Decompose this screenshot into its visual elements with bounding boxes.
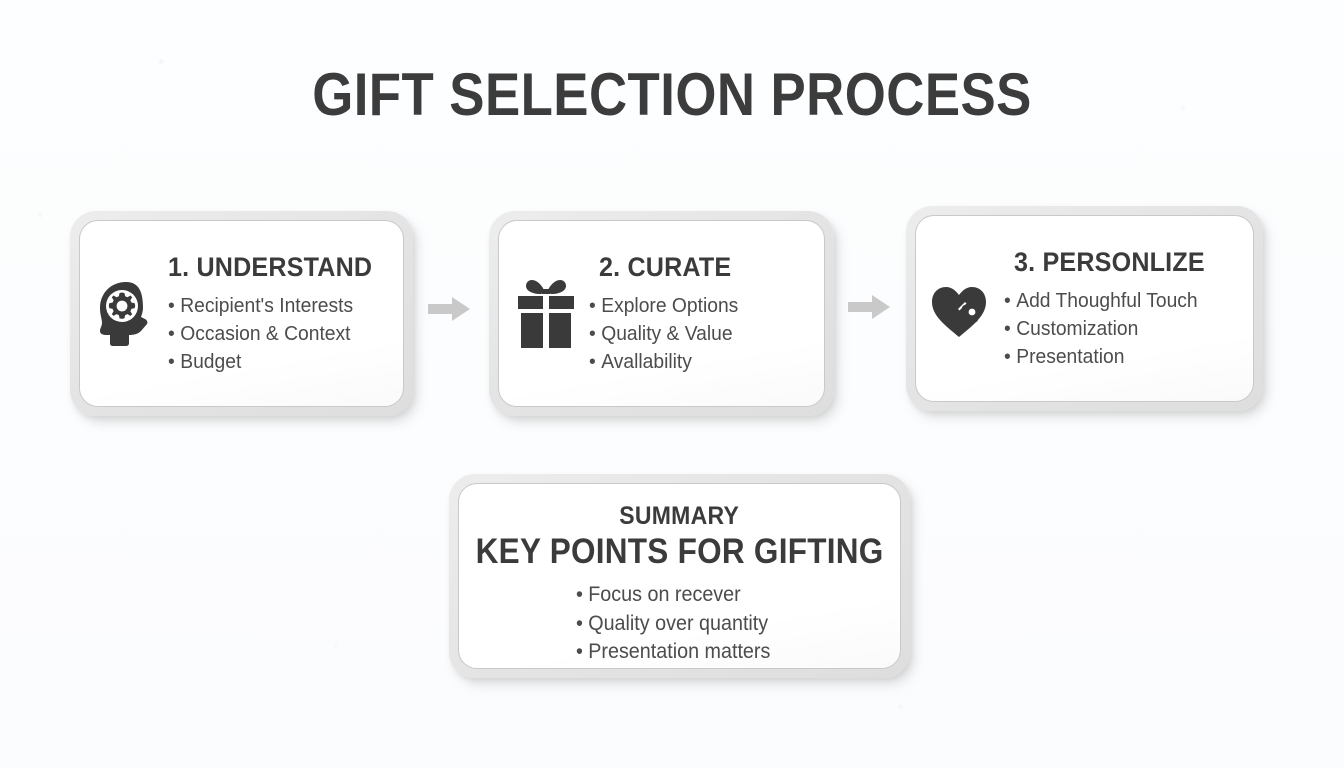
list-item: Presentation [1004,343,1229,371]
list-item: Add Thoughful Touch [1004,287,1229,315]
card-surface: 2. CURATE Explore Options Quality & Valu… [498,220,825,407]
list-item: Avallability [589,348,801,376]
list-item: Budget [168,348,380,376]
card-surface: 1. UNDERSTAND Recipient's Interests Occa… [79,220,404,407]
summary-bullet-list: Focus on recever Quality over quantity P… [576,581,783,667]
step-card-understand[interactable]: 1. UNDERSTAND Recipient's Interests Occa… [70,211,413,416]
step-card-personalize[interactable]: 3. PERSONLIZE Add Thoughful Touch Custom… [906,206,1263,411]
step-bullet-list: Add Thoughful Touch Customization Presen… [1004,287,1243,371]
step-heading: 3. PERSONLIZE [1014,247,1227,277]
list-item: Occasion & Context [168,320,380,348]
list-item: Presentation matters [576,638,770,667]
page-title: GIFT SELECTION PROCESS [81,61,1264,129]
arrow-right-icon [428,295,472,323]
infographic-canvas: GIFT SELECTION PROCESS 1. UNDERSTAND [0,0,1344,768]
summary-label: SUMMARY [620,501,740,531]
list-item: Explore Options [589,292,801,320]
card-surface: 3. PERSONLIZE Add Thoughful Touch Custom… [915,215,1254,402]
step-bullet-list: Recipient's Interests Occasion & Context… [168,292,393,376]
summary-heading: KEY POINTS FOR GIFTING [476,531,884,573]
summary-card[interactable]: SUMMARY KEY POINTS FOR GIFTING Focus on … [449,474,910,678]
list-item: Focus on recever [576,581,770,610]
step-heading: 2. CURATE [599,252,799,282]
heart-tag-icon [916,277,1002,341]
list-item: Recipient's Interests [168,292,380,320]
arrow-right-icon [848,293,892,321]
gift-box-icon [499,276,585,352]
list-item: Quality over quantity [576,610,770,639]
step-bullet-list: Explore Options Quality & Value Avallabi… [589,292,814,376]
card-surface: SUMMARY KEY POINTS FOR GIFTING Focus on … [458,483,901,669]
list-item: Customization [1004,315,1229,343]
list-item: Quality & Value [589,320,801,348]
step-heading: 1. UNDERSTAND [168,252,377,282]
step-card-curate[interactable]: 2. CURATE Explore Options Quality & Valu… [489,211,834,416]
head-gear-icon [80,281,166,347]
